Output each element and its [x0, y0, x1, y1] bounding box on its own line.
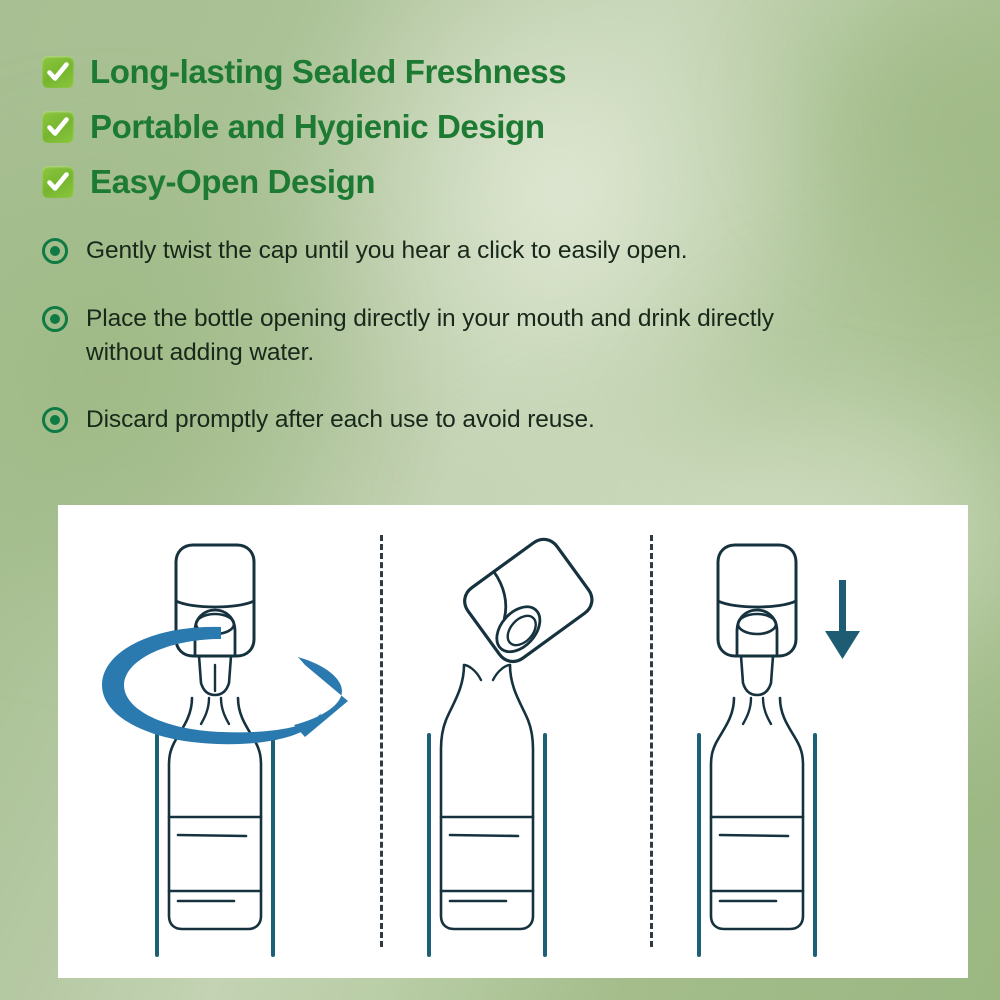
panel-divider-2 — [650, 535, 653, 947]
instruction-text: Discard promptly after each use to avoid… — [86, 403, 595, 437]
check-icon — [42, 56, 74, 88]
remove-cap-step — [429, 533, 598, 955]
feature-label: Long-lasting Sealed Freshness — [90, 55, 566, 88]
feature-item-3: Easy-Open Design — [42, 154, 942, 209]
feature-list: Long-lasting Sealed Freshness Portable a… — [42, 44, 942, 209]
instruction-text: Place the bottle opening directly in you… — [86, 302, 846, 370]
check-icon — [42, 166, 74, 198]
radio-bullet-icon — [42, 306, 68, 332]
illustration-panel — [58, 505, 968, 978]
feature-item-1: Long-lasting Sealed Freshness — [42, 44, 942, 99]
instruction-item-1: Gently twist the cap until you hear a cl… — [42, 234, 872, 268]
rotate-arrow-icon — [102, 627, 348, 744]
feature-label: Portable and Hygienic Design — [90, 110, 545, 143]
down-arrow-icon — [825, 580, 860, 659]
feature-item-2: Portable and Hygienic Design — [42, 99, 942, 154]
radio-bullet-icon — [42, 238, 68, 264]
instruction-item-2: Place the bottle opening directly in you… — [42, 302, 872, 370]
twist-cap-step — [157, 545, 273, 955]
instruction-list: Gently twist the cap until you hear a cl… — [42, 234, 872, 437]
instruction-text: Gently twist the cap until you hear a cl… — [86, 234, 687, 268]
promo-page: Long-lasting Sealed Freshness Portable a… — [0, 0, 1000, 1000]
panel-divider-1 — [380, 535, 383, 947]
feature-label: Easy-Open Design — [90, 165, 375, 198]
instruction-item-3: Discard promptly after each use to avoid… — [42, 403, 872, 437]
press-cap-step — [699, 545, 815, 955]
radio-bullet-icon — [42, 407, 68, 433]
instruction-illustration — [58, 505, 968, 978]
check-icon — [42, 111, 74, 143]
